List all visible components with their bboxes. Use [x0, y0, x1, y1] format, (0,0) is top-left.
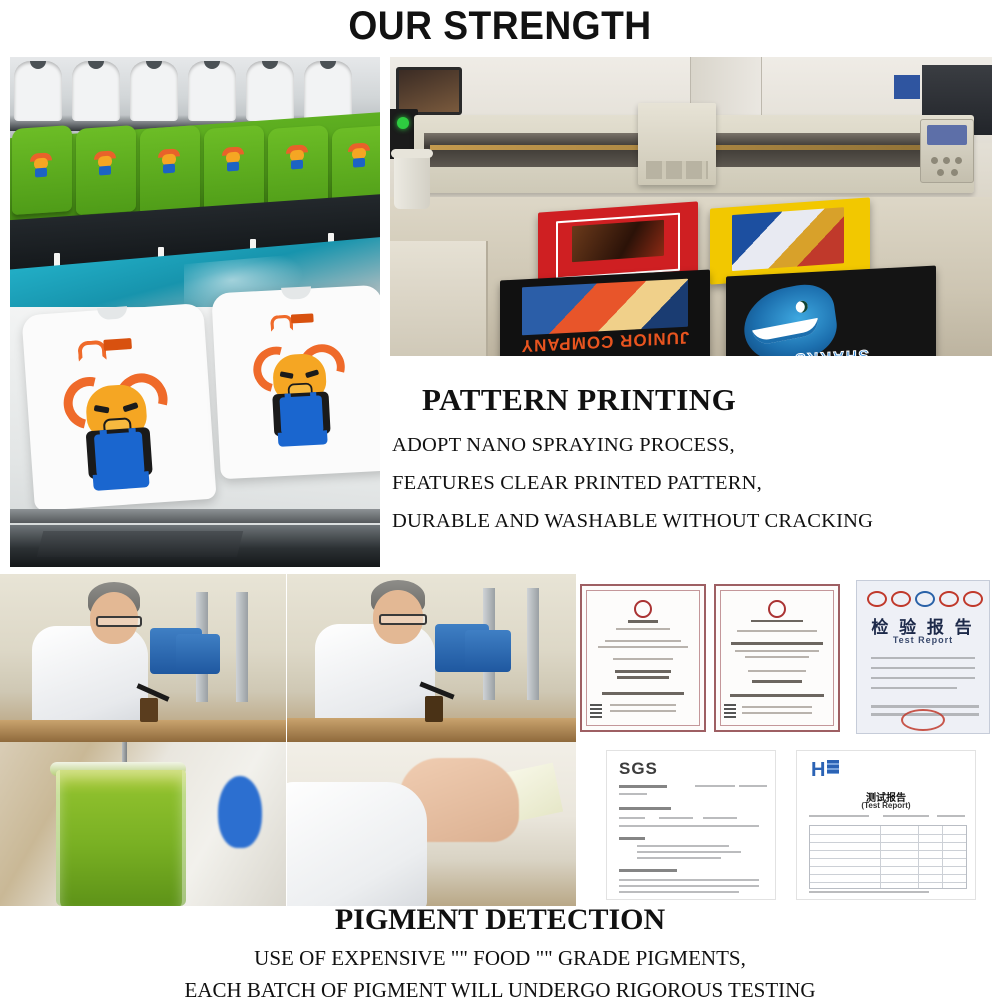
- photo-lab-scientist-1: [0, 574, 286, 742]
- bull-logo: [77, 336, 134, 356]
- lab-stand-post: [236, 592, 248, 702]
- green-shirt: [12, 125, 72, 215]
- white-shirt-top: [304, 61, 352, 121]
- h-report-title-en: (Test Report): [797, 801, 975, 810]
- white-shirt-platen: [21, 303, 216, 511]
- photo-hand-fabric-sample: [287, 742, 576, 906]
- lab-coat-sleeve: [287, 782, 427, 906]
- pigment-detection-heading: PIGMENT DETECTION: [0, 903, 1000, 937]
- green-shirt: [76, 125, 136, 215]
- safety-glasses-icon: [96, 616, 142, 627]
- photo-dtg-printer: JUNIOR COMPANY SHARKS: [390, 57, 992, 356]
- pattern-printing-block: PATTERN PRINTING ADOPT NANO SPRAYING PRO…: [392, 382, 992, 562]
- bull-mascot-print: [286, 144, 308, 170]
- certificates-scene: 检 验 报 告 Test Report: [578, 574, 992, 742]
- lab-mixer: [176, 634, 220, 674]
- green-shirt: [204, 125, 264, 215]
- conveyor-rail: [10, 509, 380, 523]
- photo-lab-scientist-2: [287, 574, 576, 742]
- garment-platen-sharks: SHARKS: [726, 265, 936, 356]
- bull-mascot-print: [222, 146, 244, 172]
- photo-certificates: 检 验 报 告 Test Report: [578, 574, 992, 742]
- cn-test-report: 检 验 报 告 Test Report: [856, 580, 990, 734]
- ink-bucket: [394, 153, 430, 209]
- beaker-scene: [0, 742, 286, 906]
- photo-green-pigment-beaker: [0, 742, 286, 906]
- print-head-carriage: [638, 103, 716, 185]
- bull-mascot-print: [30, 152, 52, 178]
- lab-bench: [0, 720, 286, 742]
- white-shirt-top: [14, 61, 62, 121]
- pattern-printing-line: FEATURES CLEAR PRINTED PATTERN,: [392, 472, 992, 495]
- beaker-with-green-pigment: [56, 770, 186, 906]
- dtg-scene: JUNIOR COMPANY SHARKS: [390, 57, 992, 356]
- pigment-detection-line: EACH BATCH OF PIGMENT WILL UNDERGO RIGOR…: [0, 978, 1000, 1003]
- bull-mascot-large: [61, 358, 174, 493]
- machine-base: [10, 525, 380, 567]
- bull-mascot-print: [348, 142, 370, 168]
- h-test-report: H 测试报告 (Test Report): [796, 750, 976, 900]
- white-shirt-platen: [211, 285, 380, 480]
- bull-mascot-print: [94, 150, 116, 176]
- white-shirt-top: [72, 61, 120, 121]
- infographic-page: OUR STRENGTH: [0, 0, 1000, 1000]
- pattern-printing-heading: PATTERN PRINTING: [422, 382, 992, 418]
- white-shirt-top: [130, 61, 178, 121]
- reports-scene: SGS H 测试报告: [578, 742, 992, 906]
- garment-platen-junior-company: JUNIOR COMPANY: [500, 269, 710, 356]
- lab-scene-2: [287, 574, 576, 742]
- h-logo: H: [811, 759, 825, 782]
- bull-mascot-print: [158, 148, 180, 174]
- bull-mascot-large: [251, 331, 348, 448]
- sample-vial: [140, 698, 158, 722]
- pigment-detection-block: PIGMENT DETECTION USE OF EXPENSIVE "" FO…: [0, 903, 1000, 1000]
- bull-logo: [270, 312, 315, 327]
- printer-control-panel[interactable]: [920, 119, 974, 183]
- lab-stand-post: [527, 588, 539, 700]
- page-title: OUR STRENGTH: [35, 0, 965, 52]
- screenprint-scene: [10, 57, 380, 567]
- pattern-printing-line: ADOPT NANO SPRAYING PROCESS,: [392, 434, 992, 457]
- lab-scene-1: [0, 574, 286, 742]
- shark-icon: [739, 279, 840, 356]
- sgs-logo: SGS: [619, 759, 658, 779]
- sgs-report: SGS: [606, 750, 776, 900]
- cn-report-title-en: Test Report: [857, 635, 989, 645]
- blue-equipment-blur: [218, 776, 262, 848]
- lab-mixer: [465, 630, 511, 672]
- hand-scene: [287, 742, 576, 906]
- white-shirt-top: [246, 61, 294, 121]
- results-table: [809, 825, 967, 889]
- tablet-screen: [396, 67, 462, 115]
- white-shirt-top: [188, 61, 236, 121]
- pattern-printing-line: DURABLE AND WASHABLE WITHOUT CRACKING: [392, 510, 992, 533]
- sample-vial: [425, 696, 443, 722]
- photo-screenprint-carousel: [10, 57, 380, 567]
- pigment-detection-line: USE OF EXPENSIVE "" FOOD "" GRADE PIGMEN…: [0, 946, 1000, 971]
- safety-glasses-icon: [379, 614, 427, 625]
- iso-certificate: [580, 584, 706, 732]
- iso-certificate: [714, 584, 840, 732]
- photo-test-reports: SGS H 测试报告: [578, 742, 992, 906]
- green-shirt: [140, 125, 200, 215]
